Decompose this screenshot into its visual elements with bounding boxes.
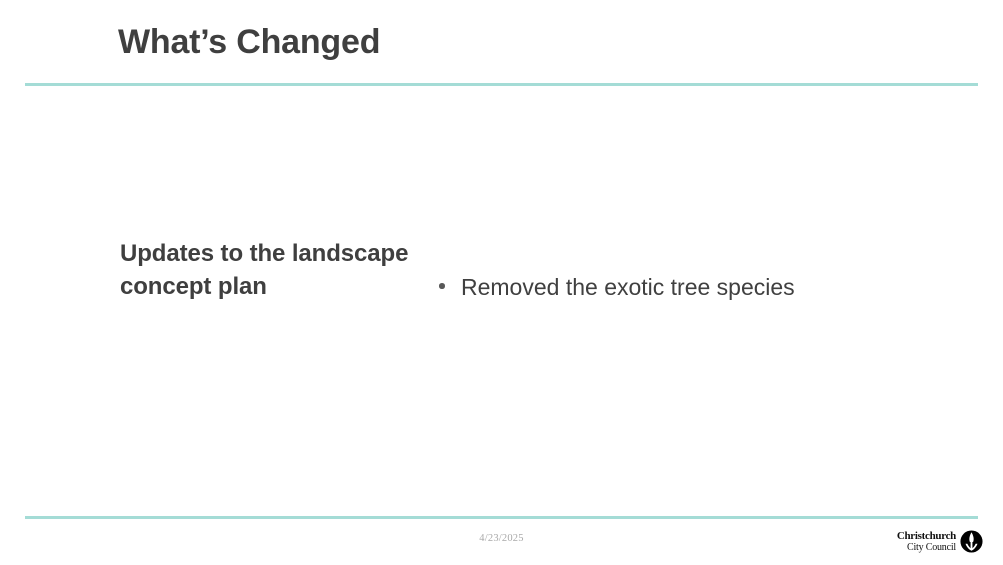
slide: What’s Changed Updates to the landscape … [0,0,1003,565]
logo-wordmark: Christchurch City Council [897,531,956,553]
bullet-dot-icon [439,283,445,289]
footer-date: 4/23/2025 [0,533,1003,544]
logo-line-christchurch: Christchurch [897,531,956,542]
header-divider [25,83,978,86]
bullet-list: Removed the exotic tree species [432,271,952,303]
christchurch-city-council-emblem-icon [960,530,983,553]
list-item-label: Removed the exotic tree species [461,274,795,300]
section-heading: Updates to the landscape concept plan [120,238,410,303]
logo-line-city-council: City Council [897,542,956,553]
list-item: Removed the exotic tree species [432,271,952,303]
footer-divider [25,516,978,519]
footer-logo: Christchurch City Council [897,530,983,553]
page-title: What’s Changed [118,20,380,64]
